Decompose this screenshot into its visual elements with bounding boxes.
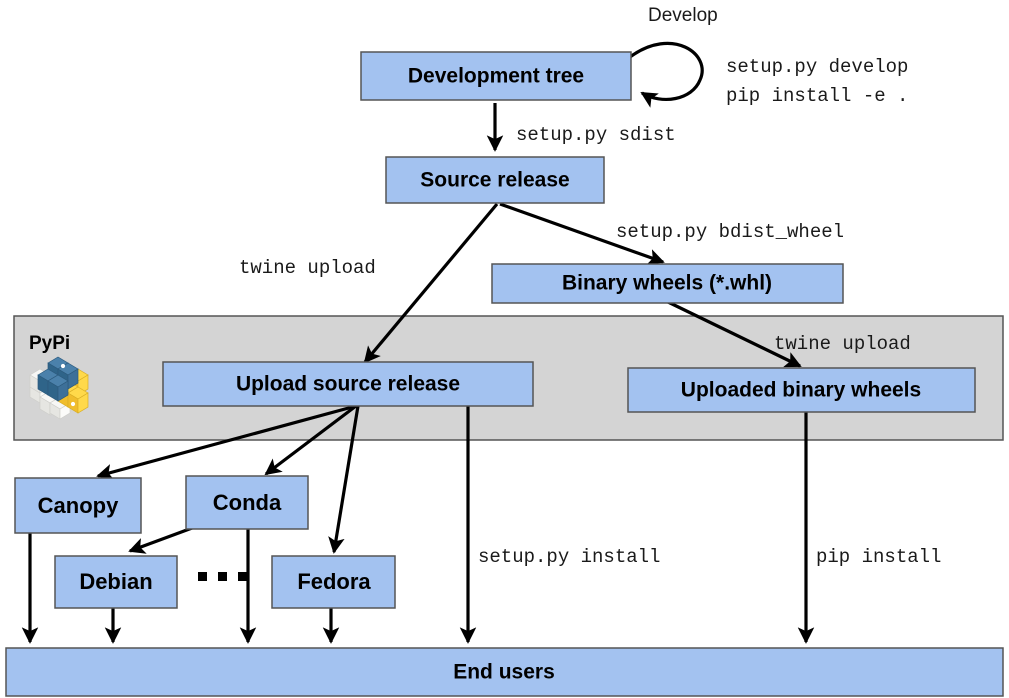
node-end-users-label: End users [453, 661, 555, 684]
diagram-canvas: PyPi [0, 0, 1009, 698]
edge-develop-selfloop [630, 43, 702, 99]
node-debian-label: Debian [79, 569, 152, 594]
ellipsis-more-distributions [198, 572, 247, 581]
edge-label-setup-py-develop: setup.py develop [726, 56, 908, 78]
node-uploaded-binary-wheels-label: Uploaded binary wheels [681, 379, 921, 402]
node-development-tree-label: Development tree [408, 65, 584, 88]
node-canopy-label: Canopy [38, 493, 119, 518]
edge-label-setup-py-install: setup.py install [478, 546, 660, 568]
node-conda-label: Conda [213, 490, 282, 515]
packaging-flow-diagram: PyPi [0, 0, 1009, 698]
edge-label-pip-install-editable: pip install -e . [726, 85, 908, 107]
edge-label-setup-py-sdist: setup.py sdist [516, 124, 676, 146]
edge-label-twine-upload-wheels: twine upload [774, 333, 911, 355]
edge-label-develop: Develop [648, 5, 718, 26]
edge-label-twine-upload-source: twine upload [239, 257, 376, 279]
edge-label-pip-install: pip install [816, 546, 941, 568]
edge-label-setup-py-bdist-wheel: setup.py bdist_wheel [616, 221, 844, 243]
node-upload-source-release-label: Upload source release [236, 373, 460, 396]
node-source-release-label: Source release [420, 169, 569, 192]
node-fedora-label: Fedora [297, 569, 371, 594]
pypi-group-label: PyPi [29, 333, 70, 354]
node-binary-wheels-label: Binary wheels (*.whl) [562, 272, 772, 295]
